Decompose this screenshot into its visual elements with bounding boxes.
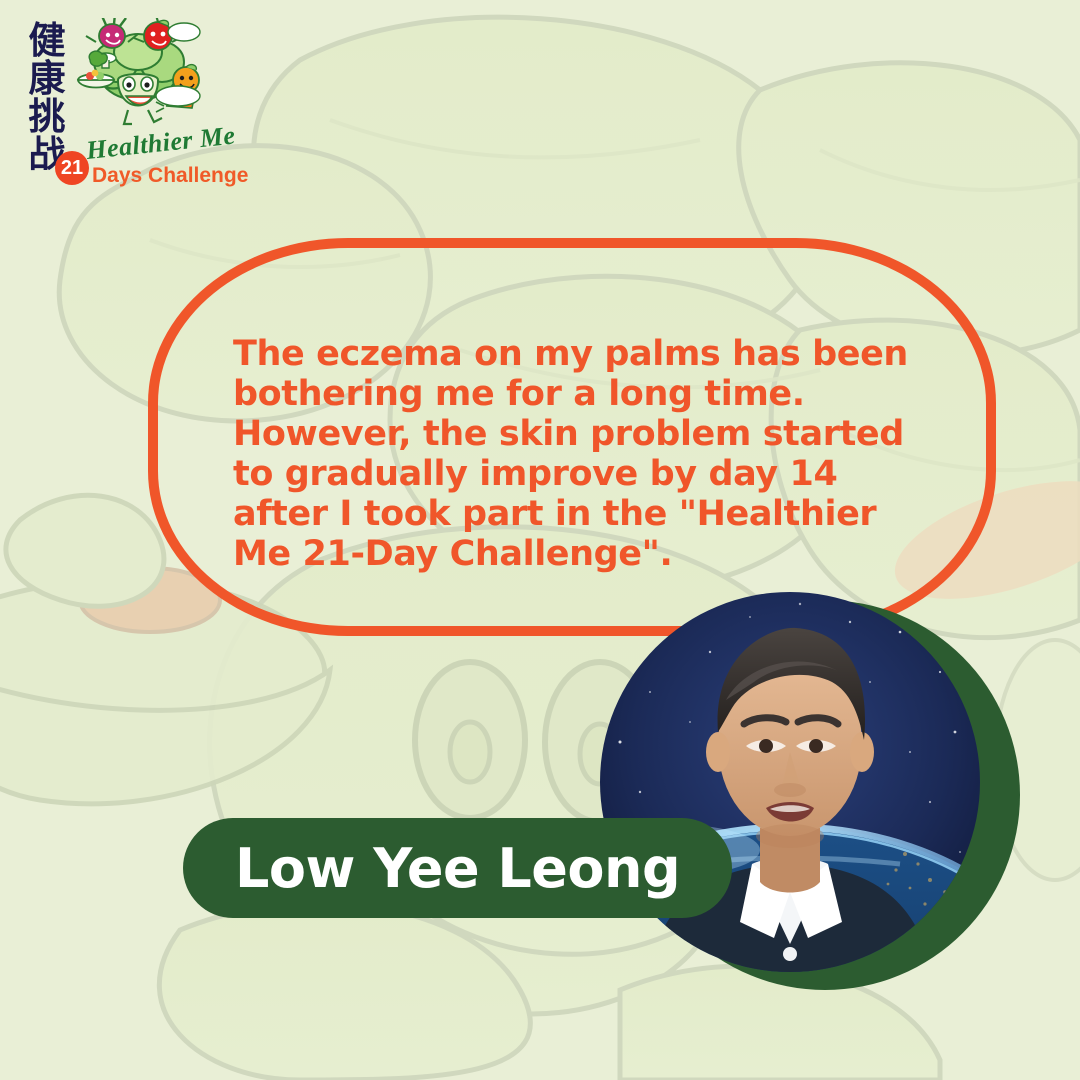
brand-logo: 健康挑战 — [22, 18, 207, 183]
testimonial-poster: 健康挑战 — [0, 0, 1080, 1080]
logo-day-count-badge: 21 — [55, 151, 89, 185]
speaker-name-label: Low Yee Leong — [235, 837, 680, 900]
testimonial-quote: The eczema on my palms has been botherin… — [233, 334, 933, 574]
speaker-name-badge: Low Yee Leong — [183, 818, 732, 918]
logo-days-challenge-text: Days Challenge — [92, 164, 248, 188]
lettuce-mascot-icon — [66, 18, 208, 140]
logo-chinese-title: 健康挑战 — [24, 22, 70, 174]
